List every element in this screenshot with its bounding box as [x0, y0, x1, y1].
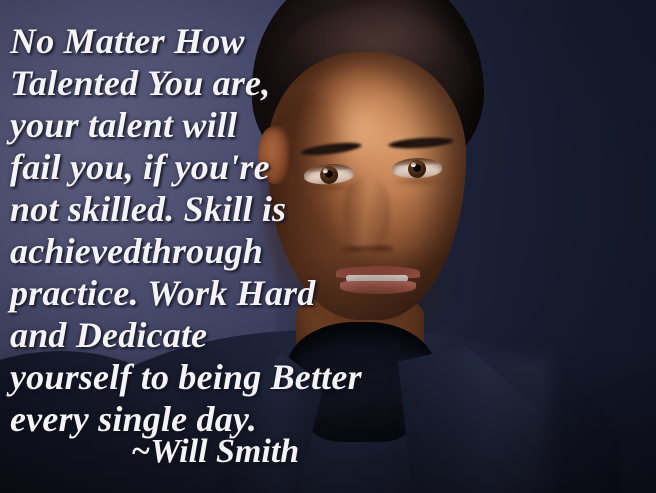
quote-line: Talented You are, — [10, 62, 646, 104]
quote-attribution: ~Will Smith — [10, 432, 646, 472]
quote-line: not skilled. Skill is — [10, 188, 646, 230]
quote-line: practice. Work Hard — [10, 272, 646, 314]
quote-line: and Dedicate — [10, 314, 646, 356]
quote-line: No Matter How — [10, 20, 646, 62]
quote-line: your talent will — [10, 104, 646, 146]
quote-line: fail you, if you're — [10, 146, 646, 188]
quote-line: achievedthrough — [10, 230, 646, 272]
quote-line: yourself to being Better — [10, 356, 646, 398]
quote-poster: No Matter How Talented You are, your tal… — [0, 0, 656, 493]
quote-text: No Matter How Talented You are, your tal… — [10, 20, 646, 440]
